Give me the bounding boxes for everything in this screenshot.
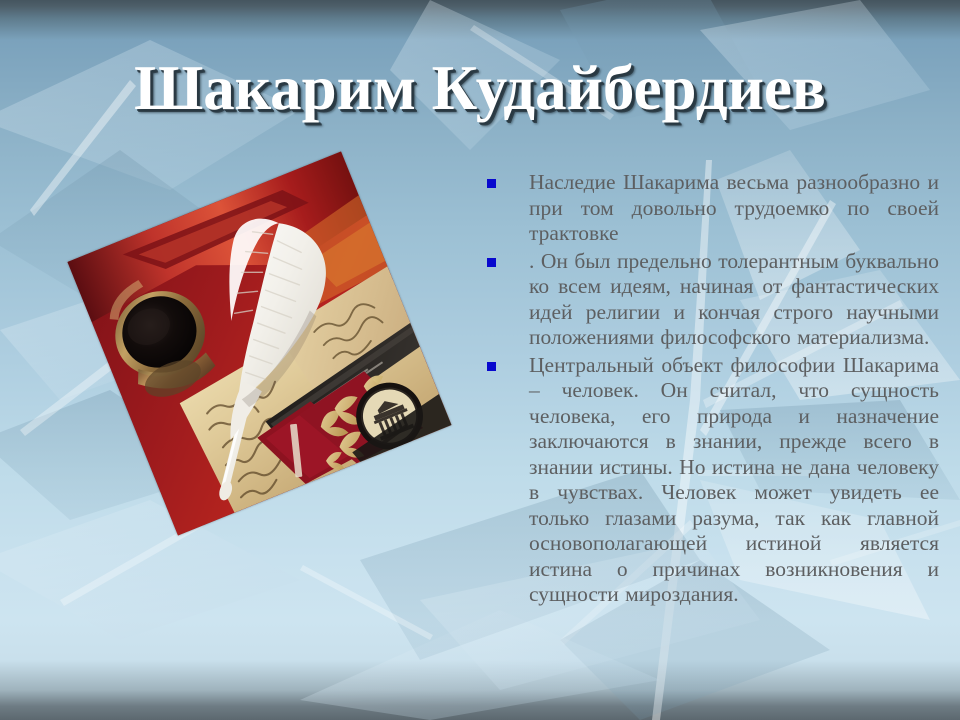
photo-frame: [67, 151, 451, 535]
quill-pen-on-red-book-photo: [67, 151, 451, 535]
square-bullet-icon: [487, 179, 496, 188]
square-bullet-icon: [487, 258, 496, 267]
presentation-slide: Шакарим Кудайбердиев: [0, 0, 960, 720]
list-item: Центральный объект философии Шакарима – …: [487, 353, 939, 608]
bullet-text: . Он был предельно толерантным буквально…: [529, 249, 939, 351]
bullet-list: Наследие Шакарима весьма разнообразно и …: [487, 170, 939, 610]
list-item: . Он был предельно толерантным буквально…: [487, 249, 939, 351]
square-bullet-icon: [487, 362, 496, 371]
slide-title: Шакарим Кудайбердиев: [0, 52, 960, 124]
bullet-text: Наследие Шакарима весьма разнообразно и …: [529, 170, 939, 247]
list-item: Наследие Шакарима весьма разнообразно и …: [487, 170, 939, 247]
bullet-text: Центральный объект философии Шакарима – …: [529, 353, 939, 608]
